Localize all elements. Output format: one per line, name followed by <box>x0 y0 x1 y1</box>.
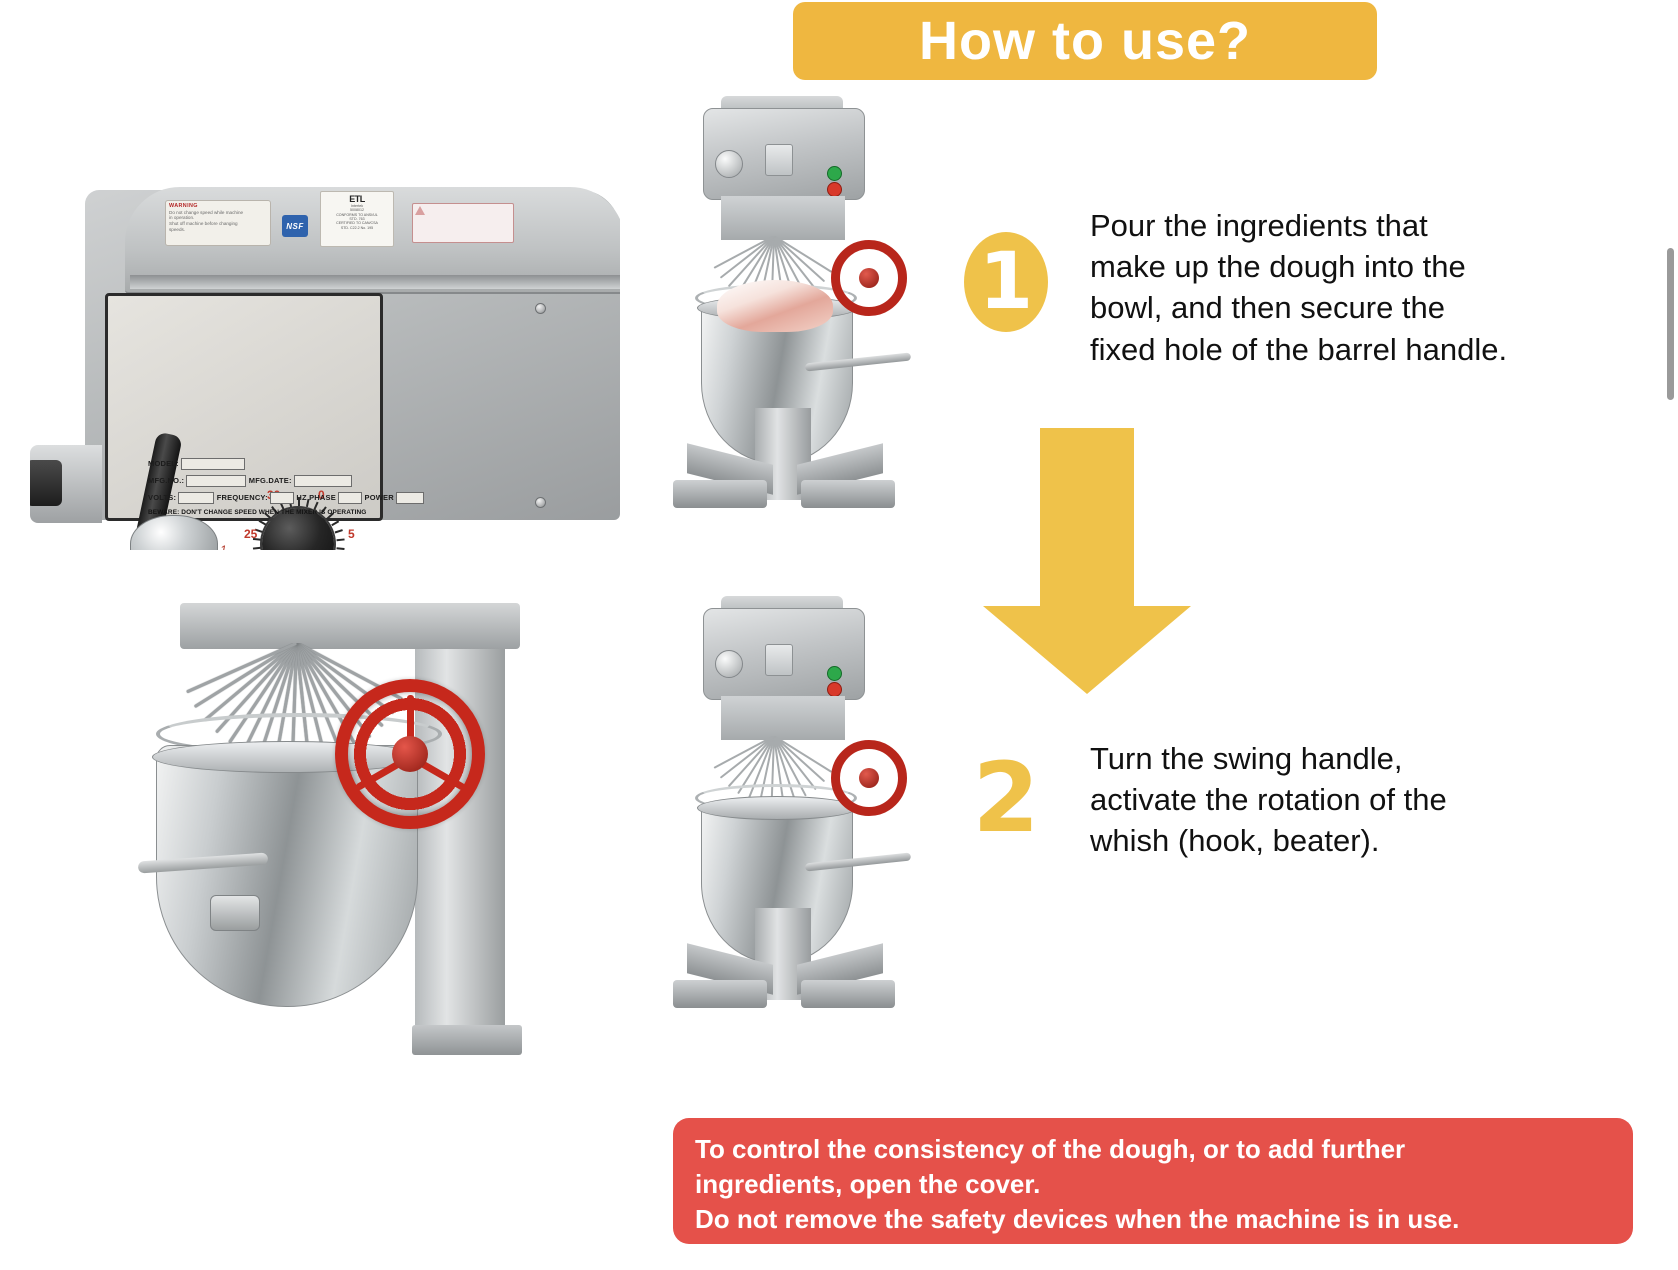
foot-right <box>801 980 895 1008</box>
page-title: How to use? <box>919 14 1251 68</box>
step-1-text: Pour the ingredients that make up the do… <box>1090 205 1570 370</box>
control-panel-plate <box>765 644 793 676</box>
etl-line-6: STD. C22.2 No. 195 <box>321 226 393 230</box>
beware-note: BEWARE: DON'T CHANGE SPEED WHEN THE MIXE… <box>148 509 366 516</box>
nameplate-mfg-row: MFG.NO.: MFG.DATE: <box>148 475 352 487</box>
timer-number-5: 5 <box>348 527 355 541</box>
column-foot <box>412 1025 522 1055</box>
frequency-field <box>270 492 294 504</box>
red-stop-button[interactable] <box>827 682 842 697</box>
step-1-number: 1 <box>979 243 1033 321</box>
label-power: POWER <box>365 493 394 502</box>
foot-left <box>673 480 767 508</box>
nsf-badge: NSF <box>282 215 308 237</box>
mixer-neck <box>721 196 845 240</box>
handwheel-hub <box>859 768 879 788</box>
mfg-no-field <box>186 475 246 487</box>
label-mfg-no: MFG.NO.: <box>148 476 184 485</box>
dough-in-bowl <box>717 280 833 332</box>
green-start-button[interactable] <box>827 166 842 181</box>
nameplate-model-row: MODEL: <box>148 458 245 470</box>
etl-mark: ETL <box>321 194 393 204</box>
safety-note-line-2: ingredients, open the cover. <box>695 1167 1611 1202</box>
nameplate-electrical-row: VOLTS: FREQUENCY: HZ PHASE POWER <box>148 492 424 504</box>
foot-right <box>801 480 895 508</box>
shaft-cap <box>30 460 62 506</box>
label-phase: PHASE <box>309 493 336 502</box>
step-2-number: 2 <box>973 750 1040 846</box>
hood-shadow <box>130 275 620 289</box>
model-field <box>181 458 245 470</box>
screw-icon <box>535 303 546 314</box>
photo-mixer-step2 <box>655 608 935 1038</box>
scrollbar-track[interactable] <box>1664 0 1678 1270</box>
speed-number-1: 1 <box>220 543 227 550</box>
speed-knob[interactable] <box>715 650 743 678</box>
mixer-neck <box>721 696 845 740</box>
hazard-warning-sticker <box>412 203 514 243</box>
down-arrow-icon <box>983 428 1191 694</box>
foot-left <box>673 980 767 1008</box>
safety-note-line-3: Do not remove the safety devices when th… <box>695 1202 1611 1237</box>
timer-number-25: 25 <box>244 527 257 541</box>
safety-note-box: To control the consistency of the dough,… <box>673 1118 1633 1244</box>
warning-triangle-icon <box>415 206 425 215</box>
screw-icon <box>535 497 546 508</box>
label-volts: VOLTS: <box>148 493 176 502</box>
label-hz: HZ <box>296 493 306 502</box>
phase-field <box>338 492 362 504</box>
mfg-date-field <box>294 475 352 487</box>
step-2-text: Turn the swing handle, activate the rota… <box>1090 738 1570 862</box>
warning-sticker-line-4: speeds. <box>169 227 267 233</box>
handwheel-hub <box>392 736 428 772</box>
green-start-button[interactable] <box>827 666 842 681</box>
photo-control-panel: WARNING Do not change speed while machin… <box>30 175 620 550</box>
speed-knob[interactable] <box>715 150 743 178</box>
page-title-banner: How to use? <box>793 2 1377 80</box>
warning-sticker-heading: WARNING <box>169 203 267 210</box>
bowl-rim <box>697 796 857 820</box>
bowl-clamp[interactable] <box>210 895 260 931</box>
label-frequency: FREQUENCY: <box>217 493 268 502</box>
photo-mixer-step1 <box>655 108 935 538</box>
warning-sticker: WARNING Do not change speed while machin… <box>165 200 271 246</box>
control-panel-plate <box>765 144 793 176</box>
safety-note-line-1: To control the consistency of the dough,… <box>695 1132 1611 1167</box>
volts-field <box>178 492 214 504</box>
photo-bowl-and-handwheel <box>60 595 590 1055</box>
etl-certification-badge: ETL Intertek 5008012 CONFORMS TO ANSI/UL… <box>320 191 394 247</box>
power-field <box>396 492 424 504</box>
step-2-badge: 2 <box>964 748 1048 848</box>
infographic-page: How to use? WARNING Do not change speed … <box>0 0 1678 1270</box>
label-model: MODEL: <box>148 459 179 468</box>
red-stop-button[interactable] <box>827 182 842 197</box>
scrollbar-thumb[interactable] <box>1667 248 1674 400</box>
handwheel-hub <box>859 268 879 288</box>
label-mfg-date: MFG.DATE: <box>249 476 292 485</box>
step-1-badge: 1 <box>964 232 1048 332</box>
